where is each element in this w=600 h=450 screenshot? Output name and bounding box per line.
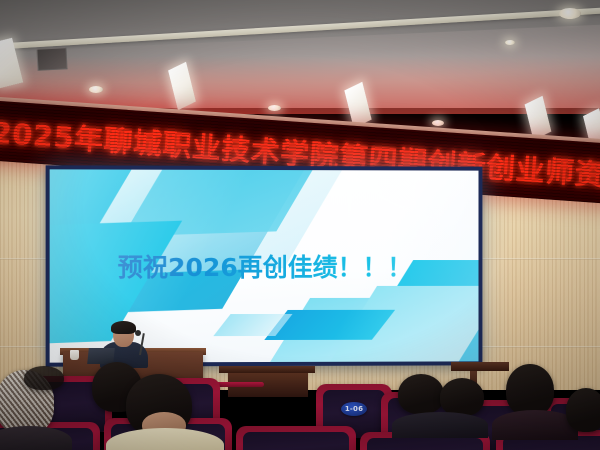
audience-seating: 1-06 2-06 3-06 xyxy=(0,368,600,450)
audience-member-shoulders xyxy=(392,412,488,438)
ceiling-vent-panel xyxy=(36,47,67,71)
audience-member-head xyxy=(24,366,64,390)
ceiling-downlight xyxy=(268,105,281,111)
desk-microphone-head xyxy=(135,330,141,336)
seat-back-cushion xyxy=(367,438,483,450)
audience-member-head xyxy=(506,364,554,416)
seat-number-badge: 1-06 xyxy=(341,402,367,416)
presenter-hair xyxy=(111,321,136,334)
ceiling-downlight xyxy=(505,40,515,45)
ceiling-downlight xyxy=(89,86,103,93)
audience-member-head xyxy=(398,374,444,414)
conference-hall-photo: 2025年聊城职业技术学院第四期创新创业师资能力提升培训班 预祝2026再创佳绩… xyxy=(0,0,600,450)
audience-member-head xyxy=(566,388,600,432)
slide-title: 预祝2026再创佳绩！！！ xyxy=(50,248,479,284)
audience-member-head xyxy=(440,378,484,416)
seat-back-cushion xyxy=(243,432,349,450)
ceiling-downlight xyxy=(559,8,581,19)
ceiling-downlight xyxy=(432,120,444,126)
seat[interactable] xyxy=(236,426,356,450)
projection-screen-frame: 预祝2026再创佳绩！！！ xyxy=(46,165,483,366)
water-cup xyxy=(70,350,79,360)
